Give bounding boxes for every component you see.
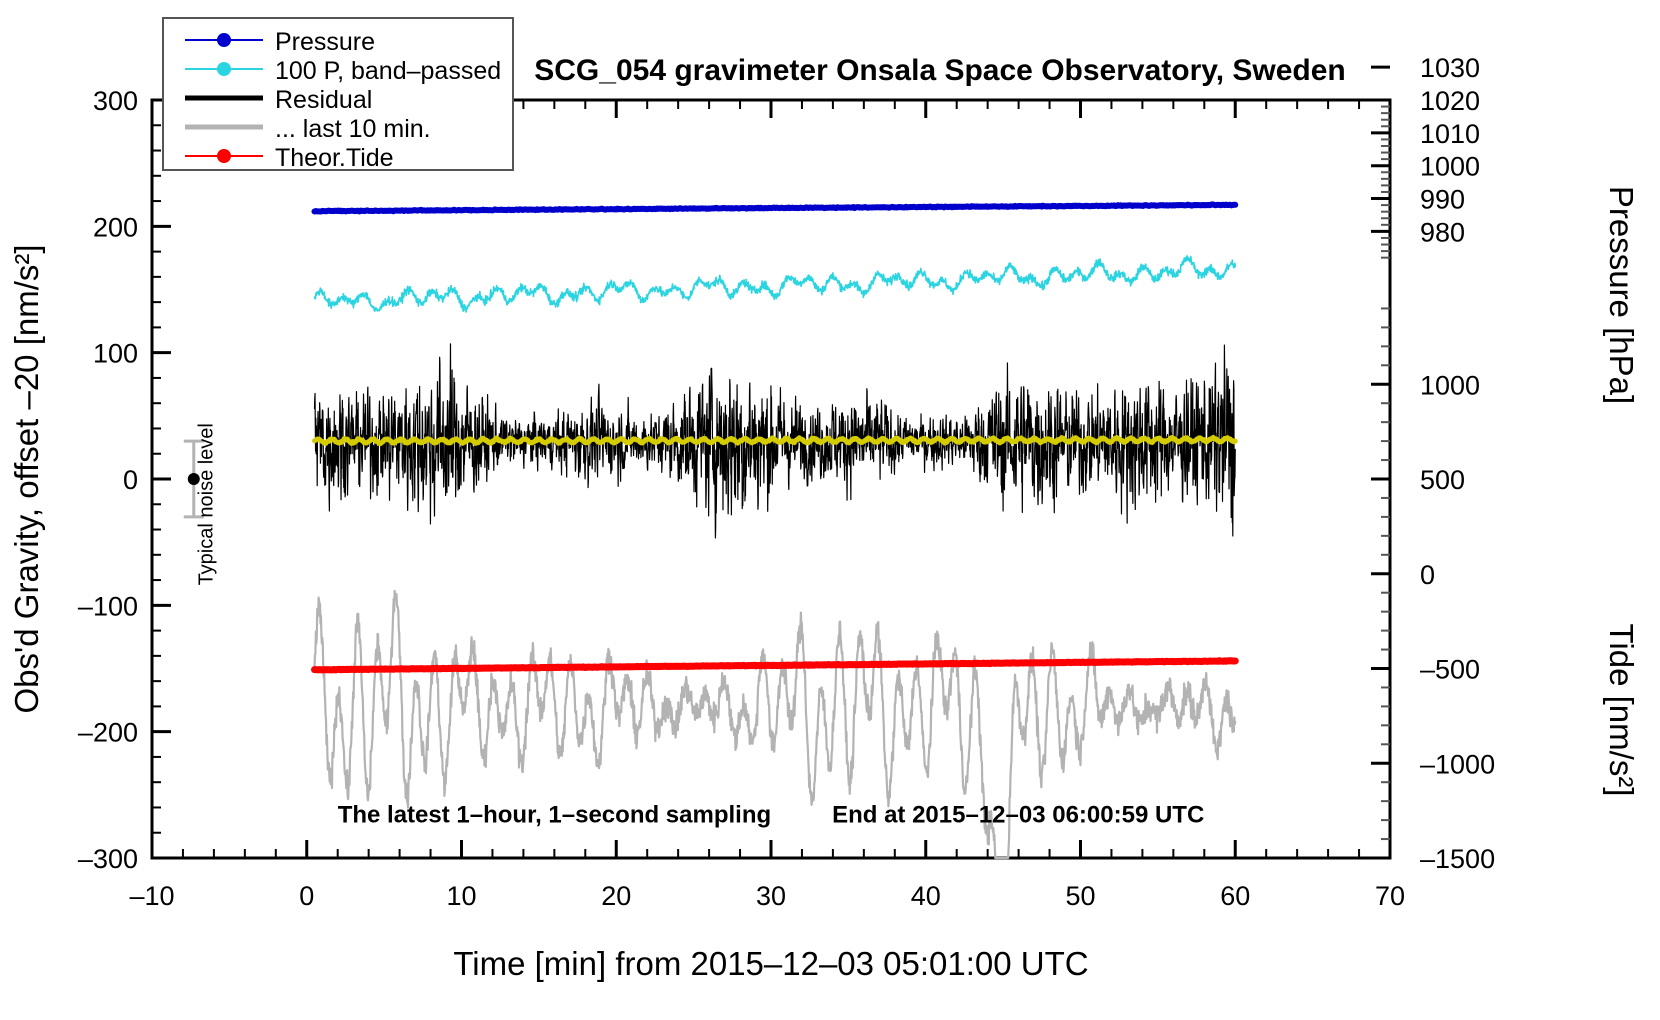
svg-text:SCG_054 gravimeter Onsala Spac: SCG_054 gravimeter Onsala Space Observat… <box>534 54 1346 87</box>
trace-100-p-band-passed-path <box>314 256 1235 312</box>
svg-text:–10: –10 <box>129 881 174 911</box>
svg-text:60: 60 <box>1220 881 1250 911</box>
svg-text:200: 200 <box>93 212 138 242</box>
svg-text:... last 10 min.: ... last 10 min. <box>275 115 431 143</box>
svg-text:70: 70 <box>1375 881 1405 911</box>
svg-text:0: 0 <box>1420 560 1435 590</box>
svg-text:1000: 1000 <box>1420 370 1480 400</box>
svg-text:1010: 1010 <box>1420 119 1480 149</box>
data-traces <box>314 204 1235 858</box>
svg-text:100 P, band–passed: 100 P, band–passed <box>275 57 501 85</box>
y-axis-right-tide: –1500–1000–50005001000Tide [nm/s²] <box>1371 308 1640 874</box>
svg-text:0: 0 <box>123 465 138 495</box>
svg-text:50: 50 <box>1065 881 1095 911</box>
svg-text:980: 980 <box>1420 217 1465 247</box>
svg-text:20: 20 <box>601 881 631 911</box>
svg-text:–1000: –1000 <box>1420 749 1495 779</box>
gravimeter-chart: –10010203040506070Time [min] from 2015–1… <box>0 0 1660 1020</box>
svg-text:300: 300 <box>93 86 138 116</box>
svg-text:Pressure [hPa]: Pressure [hPa] <box>1603 186 1640 404</box>
legend-swatch-marker <box>217 33 231 47</box>
svg-text:Typical noise level: Typical noise level <box>196 423 218 585</box>
svg-text:–200: –200 <box>78 718 138 748</box>
svg-text:The latest 1–hour, 1–second sa: The latest 1–hour, 1–second sampling <box>338 802 771 829</box>
svg-text:–500: –500 <box>1420 655 1480 685</box>
chart-title: SCG_054 gravimeter Onsala Space Observat… <box>534 54 1346 87</box>
svg-text:0: 0 <box>299 881 314 911</box>
svg-text:100: 100 <box>93 339 138 369</box>
chart-page: –10010203040506070Time [min] from 2015–1… <box>0 0 1660 1020</box>
legend-swatch-marker <box>217 62 231 76</box>
svg-text:30: 30 <box>756 881 786 911</box>
y-axis-left: –300–200–1000100200300Obs'd Gravity, off… <box>8 86 171 874</box>
legend-swatch-marker <box>217 149 231 163</box>
svg-text:10: 10 <box>446 881 476 911</box>
trace-pressure <box>314 204 1235 211</box>
svg-text:Time [min] from 2015–12–03 05:: Time [min] from 2015–12–03 05:01:00 UTC <box>453 945 1088 982</box>
y-axis-right-pressure: 9809901000101010201030Pressure [hPa] <box>1371 53 1640 404</box>
svg-text:Pressure: Pressure <box>275 28 375 56</box>
svg-text:Obs'd Gravity, offset –20 [nm/: Obs'd Gravity, offset –20 [nm/s²] <box>8 244 45 713</box>
x-axis: –10010203040506070Time [min] from 2015–1… <box>129 100 1405 982</box>
svg-text:Theor.Tide: Theor.Tide <box>275 144 394 172</box>
svg-text:Tide [nm/s²]: Tide [nm/s²] <box>1603 624 1640 797</box>
svg-text:Residual: Residual <box>275 86 372 114</box>
svg-text:40: 40 <box>911 881 941 911</box>
svg-text:1020: 1020 <box>1420 86 1480 116</box>
svg-text:–300: –300 <box>78 844 138 874</box>
svg-text:990: 990 <box>1420 185 1465 215</box>
svg-text:1030: 1030 <box>1420 53 1480 83</box>
svg-text:End at 2015–12–03 06:00:59 UTC: End at 2015–12–03 06:00:59 UTC <box>832 802 1204 829</box>
svg-text:500: 500 <box>1420 465 1465 495</box>
svg-text:1000: 1000 <box>1420 152 1480 182</box>
trace-pressure-path <box>314 204 1235 211</box>
svg-text:–1500: –1500 <box>1420 844 1495 874</box>
trace-100-p-band-passed <box>314 256 1235 312</box>
legend: Pressure100 P, band–passedResidual... la… <box>163 18 513 172</box>
svg-text:–100: –100 <box>78 591 138 621</box>
